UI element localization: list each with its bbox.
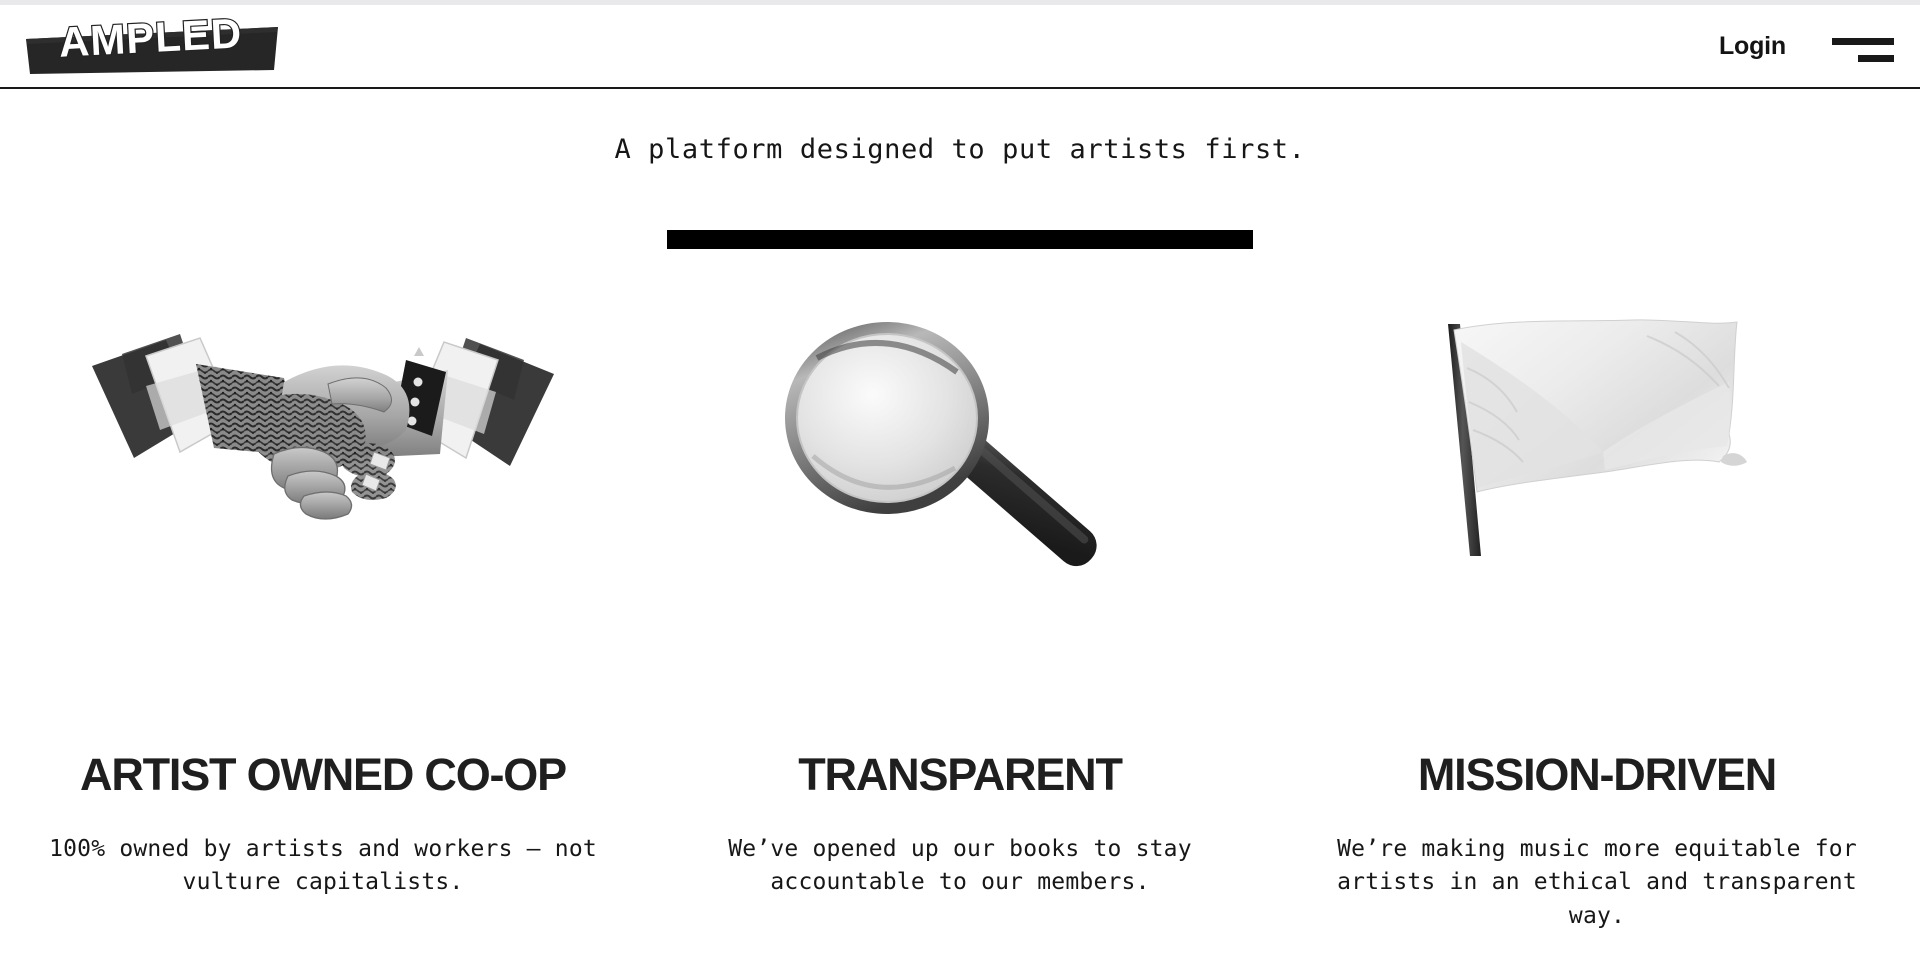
feature-card-mission-driven: MISSION-DRIVEN We’re making music more e… bbox=[1279, 296, 1916, 933]
hamburger-bar-top bbox=[1832, 38, 1894, 45]
ampled-logo-icon: AMPLED bbox=[22, 15, 284, 77]
hamburger-bar-bottom bbox=[1858, 55, 1894, 62]
white-flag-photo-icon bbox=[1279, 296, 1916, 586]
site-header: AMPLED Login bbox=[0, 5, 1920, 89]
ampled-logo[interactable]: AMPLED bbox=[22, 15, 284, 77]
magnifying-glass-photo-icon bbox=[642, 296, 1279, 586]
feature-title: TRANSPARENT bbox=[798, 752, 1121, 797]
main-content: A platform designed to put artists first… bbox=[0, 91, 1920, 972]
feature-card-artist-owned-co-op: ARTIST OWNED CO-OP 100% owned by artists… bbox=[5, 296, 642, 900]
login-link[interactable]: Login bbox=[1719, 32, 1786, 61]
feature-title: ARTIST OWNED CO-OP bbox=[80, 752, 566, 797]
feature-title: MISSION-DRIVEN bbox=[1418, 752, 1776, 797]
handshake-photo-icon bbox=[5, 296, 642, 586]
feature-body: 100% owned by artists and workers – not … bbox=[36, 833, 611, 900]
feature-body: We’ve opened up our books to stay accoun… bbox=[688, 833, 1233, 900]
hamburger-menu-icon[interactable] bbox=[1832, 24, 1894, 68]
header-actions: Login bbox=[1719, 24, 1894, 68]
section-divider-bar bbox=[667, 230, 1253, 249]
feature-card-transparent: TRANSPARENT We’ve opened up our books to… bbox=[642, 296, 1279, 900]
page-tagline: A platform designed to put artists first… bbox=[0, 134, 1920, 165]
feature-body: We’re making music more equitable for ar… bbox=[1317, 833, 1877, 933]
feature-grid: ARTIST OWNED CO-OP 100% owned by artists… bbox=[0, 296, 1920, 933]
